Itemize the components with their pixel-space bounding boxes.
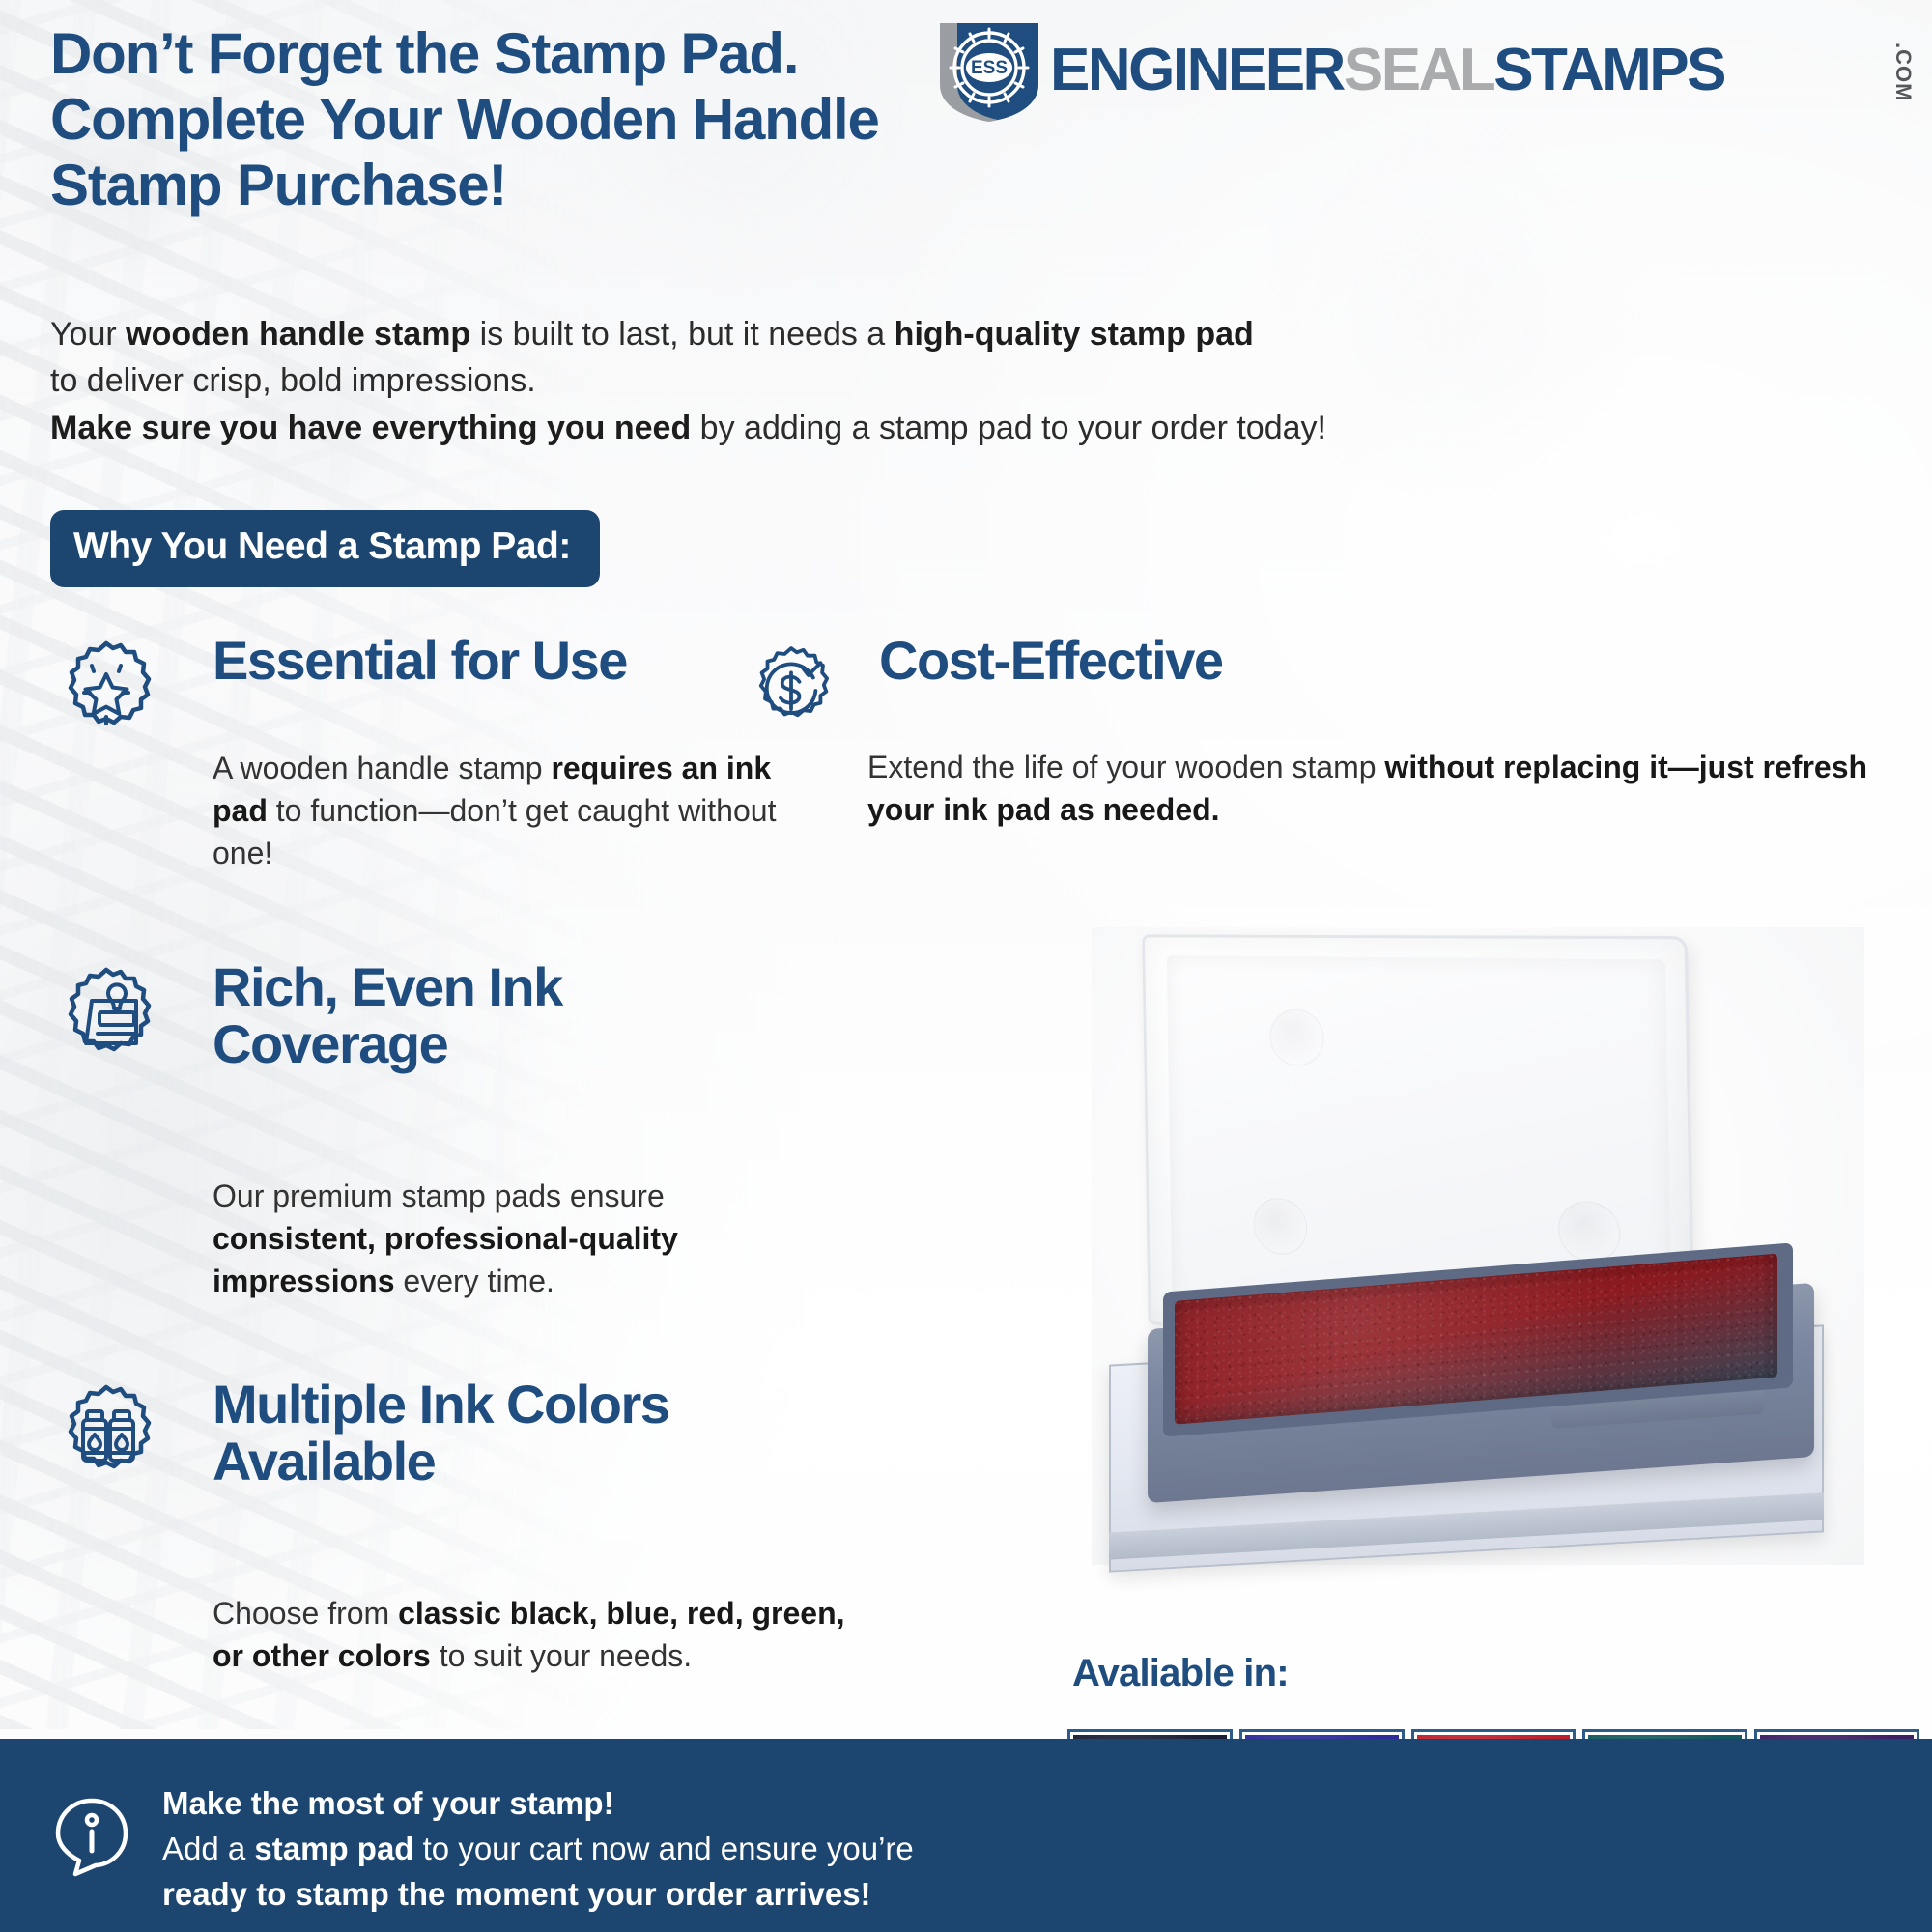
feature-body: A wooden handle stamp requires an ink pa… [213, 747, 811, 874]
feature-body: Choose from classic black, blue, red, gr… [213, 1592, 869, 1677]
logo-wordmark: ENGINEERSEALSTAMPS [1050, 41, 1724, 100]
intro-line-3: Make sure you have everything you need b… [50, 405, 1403, 451]
intro-3a: Make sure you have everything you need [50, 410, 691, 446]
lid-dimple [1269, 1009, 1324, 1066]
footer-text: Make the most of your stamp! Add a stamp… [162, 1781, 1032, 1918]
footer-callout: Make the most of your stamp! Add a stamp… [0, 1739, 1932, 1932]
footer-line-3: ready to stamp the moment your order arr… [162, 1872, 1032, 1918]
intro-paragraph: Your wooden handle stamp is built to las… [50, 311, 1403, 451]
feature-body: Our premium stamp pads ensure consistent… [213, 1175, 811, 1302]
feature-body-c: to suit your needs. [431, 1638, 692, 1673]
ess-gear-seal-icon: ESS [932, 17, 1046, 122]
headline-line-1: Don’t Forget the Stamp Pad. [50, 21, 1016, 87]
product-photo: S-2 Stamp pad for rubber stamps Almohadi… [1092, 927, 1864, 1565]
ink-bottles-badge-icon [50, 1381, 162, 1493]
footer-2a: Add a [162, 1831, 254, 1866]
feature-title-line-1: Multiple Ink Colors [213, 1376, 668, 1433]
logo-word-seal: SEAL [1344, 37, 1493, 103]
logo-tld: .COM [1890, 43, 1916, 101]
feature-body-c: to function—don’t get caught without one… [213, 793, 776, 870]
footer-2b: stamp pad [254, 1831, 413, 1866]
intro-1d: high-quality stamp pad [895, 316, 1254, 353]
info-speech-bubble-icon [50, 1795, 133, 1878]
footer-line-2: Add a stamp pad to your cart now and ens… [162, 1827, 1032, 1872]
footer-line-3-bold: ready to stamp the moment your order arr… [162, 1876, 871, 1912]
logo-mark-text: ESS [971, 58, 1008, 78]
intro-1c: is built to last, but it needs a [470, 316, 894, 353]
footer-line-1: Make the most of your stamp! [162, 1781, 1032, 1827]
footer-line-1-bold: Make the most of your stamp! [162, 1785, 614, 1821]
feature-title-line-2: Coverage [213, 1015, 562, 1072]
lid-dimple [1558, 1200, 1621, 1264]
lid-dimple [1253, 1196, 1307, 1256]
logo-word-stamps: STAMPS [1493, 37, 1724, 103]
footer-2c: to your cart now and ensure you’re [413, 1831, 913, 1866]
feature-title: Cost-Effective [879, 632, 1223, 689]
section-banner: Why You Need a Stamp Pad: [50, 510, 600, 587]
feature-body-c: every time. [395, 1264, 554, 1298]
feature-title-line-1: Rich, Even Ink [213, 958, 562, 1015]
dollar-check-badge-icon [744, 643, 838, 738]
page-title: Don’t Forget the Stamp Pad. Complete You… [50, 21, 1016, 217]
infographic-page: Don’t Forget the Stamp Pad. Complete You… [0, 0, 1932, 1932]
available-in-label: Avaliable in: [1072, 1652, 1289, 1695]
feature-body-a: Our premium stamp pads ensure [213, 1179, 665, 1213]
intro-line-1: Your wooden handle stamp is built to las… [50, 311, 1403, 357]
feature-title-line-2: Available [213, 1433, 668, 1490]
intro-1a: Your [50, 316, 126, 353]
logo-word-engineer: ENGINEER [1050, 37, 1344, 103]
headline-line-2: Complete Your Wooden Handle [50, 87, 1016, 153]
feature-body: Extend the life of your wooden stamp wit… [867, 746, 1872, 831]
feature-title: Multiple Ink Colors Available [213, 1376, 668, 1491]
intro-line-2: to deliver crisp, bold impressions. [50, 357, 1403, 404]
feature-body-a: Extend the life of your wooden stamp [867, 750, 1384, 784]
intro-1b: wooden handle stamp [126, 316, 470, 353]
headline-line-3: Stamp Purchase! [50, 153, 1016, 218]
brand-logo[interactable]: ESS ENGINEERSEALSTAMPS .COM [932, 17, 1918, 122]
feature-title: Essential for Use [213, 632, 627, 689]
rubber-stamp-badge-icon [50, 964, 162, 1076]
feature-body-a: A wooden handle stamp [213, 751, 551, 785]
feature-title: Rich, Even Ink Coverage [213, 958, 562, 1073]
intro-3b: by adding a stamp pad to your order toda… [691, 410, 1326, 446]
feature-body-a: Choose from [213, 1596, 398, 1631]
star-badge-icon [50, 638, 162, 750]
